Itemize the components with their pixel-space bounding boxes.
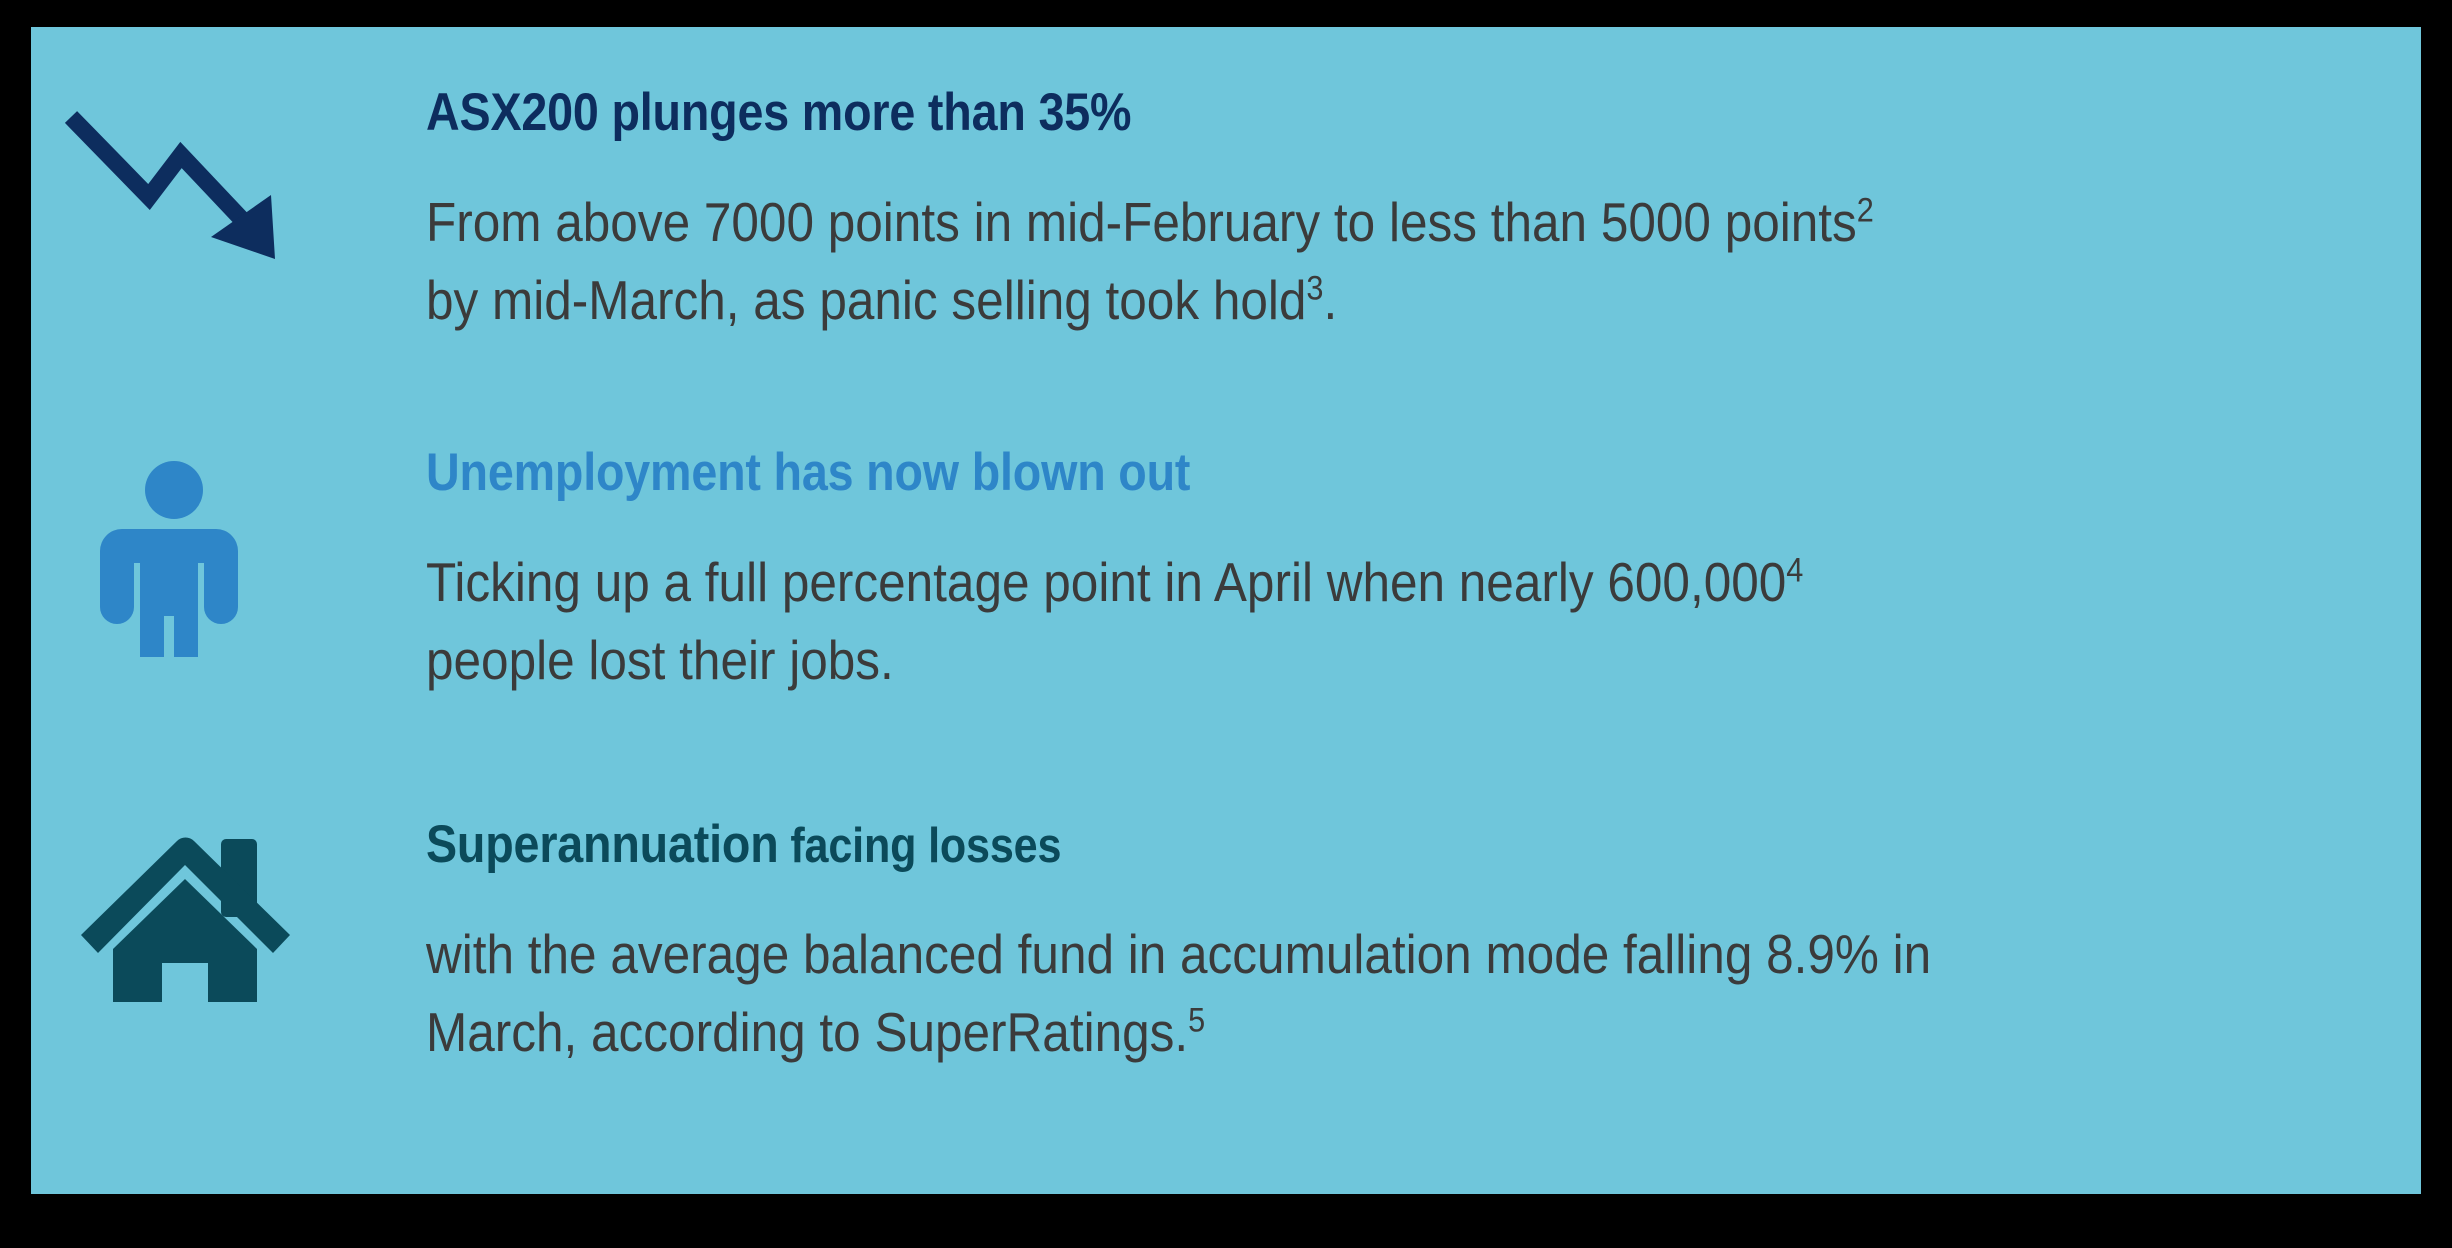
- body-asx200-line2: by mid-March, as panic selling took hold: [426, 269, 1306, 331]
- body-asx200: From above 7000 points in mid-February t…: [426, 183, 2419, 339]
- person-icon: [99, 457, 249, 657]
- icon-cell-asx200: [31, 85, 426, 345]
- body-superannuation-line2: March, according to SuperRatings.: [426, 1001, 1188, 1063]
- downward-trend-arrow-icon: [63, 109, 293, 269]
- info-item-superannuation: Superannuation facing losses with the av…: [31, 817, 2421, 1117]
- text-cell-asx200: ASX200 plunges more than 35% From above …: [426, 85, 2421, 339]
- body-superannuation: with the average balanced fund in accumu…: [426, 915, 2419, 1071]
- body-unemployment-line2: people lost their jobs.: [426, 629, 894, 691]
- footnote-ref-4: 4: [1786, 551, 1803, 589]
- body-unemployment-line1: Ticking up a full percentage point in Ap…: [426, 551, 1786, 613]
- heading-superannuation-bold: Superannuation: [426, 815, 779, 874]
- body-unemployment: Ticking up a full percentage point in Ap…: [426, 543, 2419, 699]
- footnote-ref-5: 5: [1188, 1001, 1205, 1039]
- info-panel: ASX200 plunges more than 35% From above …: [31, 27, 2421, 1194]
- heading-superannuation-rest: facing losses: [779, 819, 1062, 873]
- heading-superannuation: Superannuation facing losses: [426, 817, 2182, 873]
- heading-unemployment: Unemployment has now blown out: [426, 445, 2182, 501]
- body-asx200-line1: From above 7000 points in mid-February t…: [426, 191, 1857, 253]
- body-superannuation-line1: with the average balanced fund in accumu…: [426, 923, 1931, 985]
- text-cell-superannuation: Superannuation facing losses with the av…: [426, 817, 2421, 1071]
- info-item-unemployment: Unemployment has now blown out Ticking u…: [31, 445, 2421, 705]
- heading-asx200: ASX200 plunges more than 35%: [426, 85, 2182, 141]
- info-item-asx200: ASX200 plunges more than 35% From above …: [31, 85, 2421, 345]
- footnote-ref-3: 3: [1306, 269, 1323, 307]
- icon-cell-unemployment: [31, 445, 426, 705]
- body-asx200-line2-post: .: [1323, 269, 1337, 331]
- text-cell-unemployment: Unemployment has now blown out Ticking u…: [426, 445, 2421, 699]
- footnote-ref-2: 2: [1857, 191, 1874, 229]
- icon-cell-superannuation: [31, 817, 426, 1117]
- house-icon: [69, 827, 299, 1002]
